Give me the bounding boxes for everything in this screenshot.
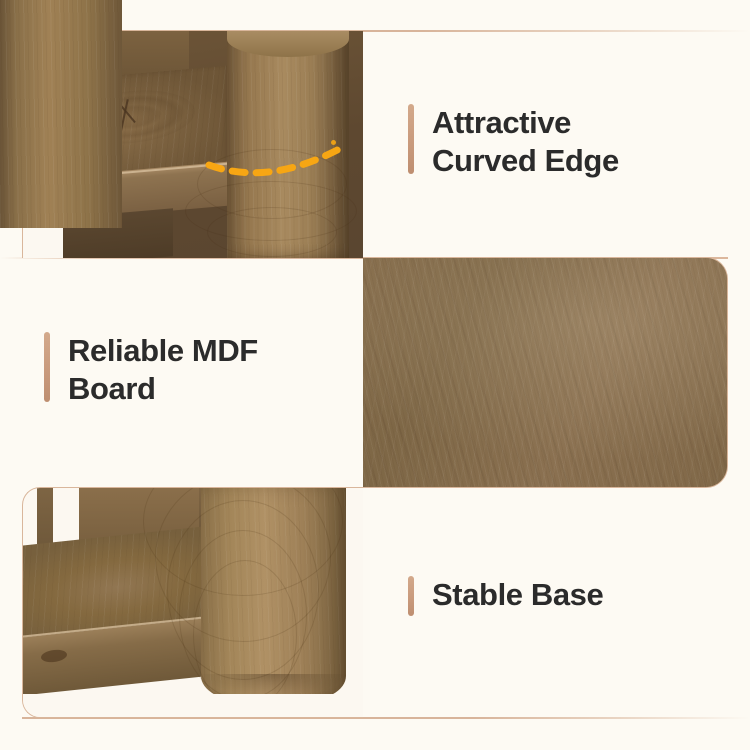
accent-bar-curved-edge [408, 104, 414, 174]
pedestal-base-leg [201, 487, 346, 702]
feature-block-curved-edge: Attractive Curved Edge [408, 104, 619, 181]
accent-bar-mdf [44, 332, 50, 402]
accent-bar-stable-base [408, 576, 414, 616]
feature-title-stable-base: Stable Base [432, 576, 603, 614]
pedestal-column-right [0, 0, 122, 228]
feature-image-stable-base [22, 487, 363, 718]
pedestal-column [227, 31, 349, 258]
mdf-surface-sheen [363, 258, 727, 487]
feature-image-mdf-board [363, 257, 728, 488]
floor-background [23, 694, 363, 718]
feature-block-mdf: Reliable MDF Board [44, 332, 258, 409]
feature-block-stable-base: Stable Base [408, 576, 603, 616]
highlight-spark-icon [331, 140, 336, 145]
pedestal-floor-shadow [201, 674, 346, 696]
feature-graphic-canvas: Attractive Curved Edge Reliable MDF Boar… [0, 0, 750, 750]
feature-title-mdf: Reliable MDF Board [68, 332, 258, 409]
feature-title-curved-edge: Attractive Curved Edge [432, 104, 619, 181]
